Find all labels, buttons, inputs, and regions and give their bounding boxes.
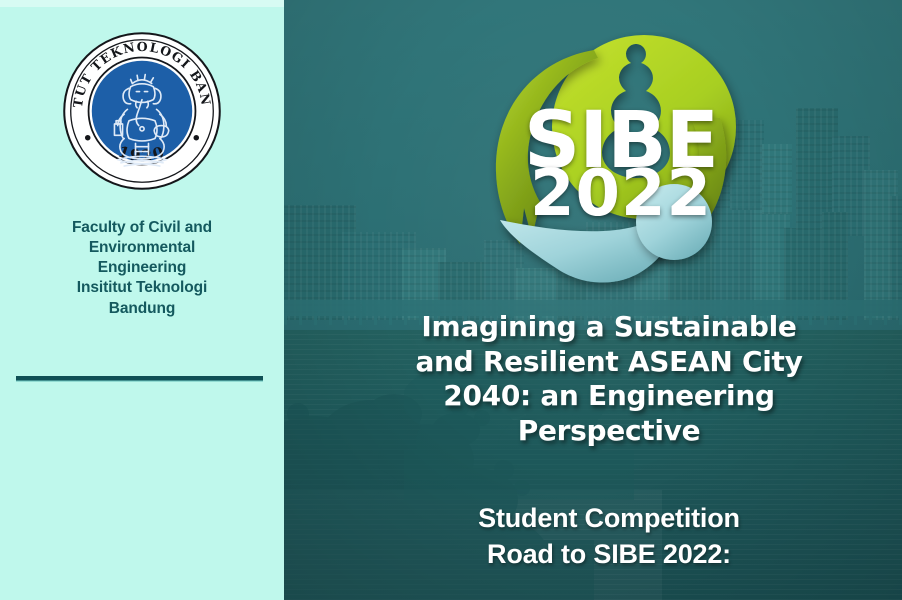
left-top-strip (0, 0, 284, 7)
faculty-line-2: Environmental (22, 238, 262, 258)
faculty-text-block: Faculty of Civil and Environmental Engin… (22, 218, 262, 319)
left-info-panel: INSTITUT TEKNOLOGI BANDUNG 1920 (0, 0, 284, 600)
faculty-line-4: Insititut Teknologi (22, 278, 262, 298)
faculty-line-1: Faculty of Civil and (22, 218, 262, 238)
faculty-line-3: Engineering (22, 258, 262, 278)
faculty-line-5: Bandung (22, 299, 262, 319)
right-hero-panel: SIBE 2022 Imagining a Sustainable and Re… (284, 0, 902, 600)
page-title: Imagining a Sustainable and Resilient AS… (336, 310, 882, 449)
page-subtitle: Student Competition Road to SIBE 2022: (336, 500, 882, 572)
poster-root: INSTITUT TEKNOLOGI BANDUNG 1920 (0, 0, 902, 600)
divider-rule (16, 376, 263, 381)
itb-seal: INSTITUT TEKNOLOGI BANDUNG 1920 (61, 30, 223, 192)
sibe-2022-logo (476, 32, 766, 297)
